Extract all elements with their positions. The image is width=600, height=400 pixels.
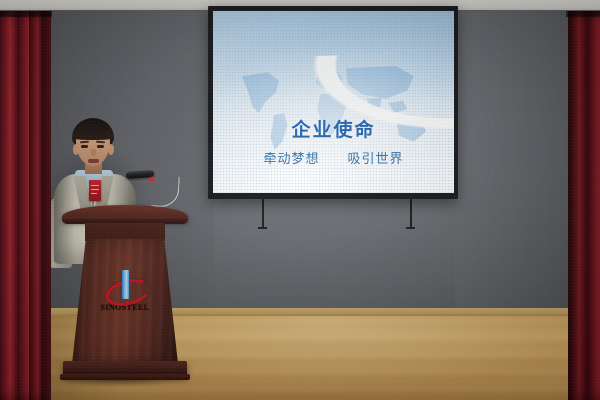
speaker-mouth [88,159,99,163]
speaker-ear-right [108,144,114,155]
curtain-rod-shadow-left [0,11,52,17]
speaker-eye-left [81,145,88,148]
speaker-nose [91,149,96,156]
microphone-led-indicator [150,177,154,181]
curtain-rod-shadow-right [566,11,600,17]
speaker-eye-right [97,145,104,148]
speaker-ear-left [73,144,79,155]
curtain-left-inner-fold [29,11,51,400]
logo-bar-icon [122,270,129,299]
speaker-id-badge [89,180,101,201]
curtain-right [568,11,600,400]
podium-neck [85,223,165,241]
podium-logo: SINOSTEEL [95,266,155,320]
presentation-room-photo: 企业使命 牵动梦想 吸引世界 [0,0,600,400]
podium-base-moulding [60,374,190,380]
company-logo-icon [95,266,155,302]
